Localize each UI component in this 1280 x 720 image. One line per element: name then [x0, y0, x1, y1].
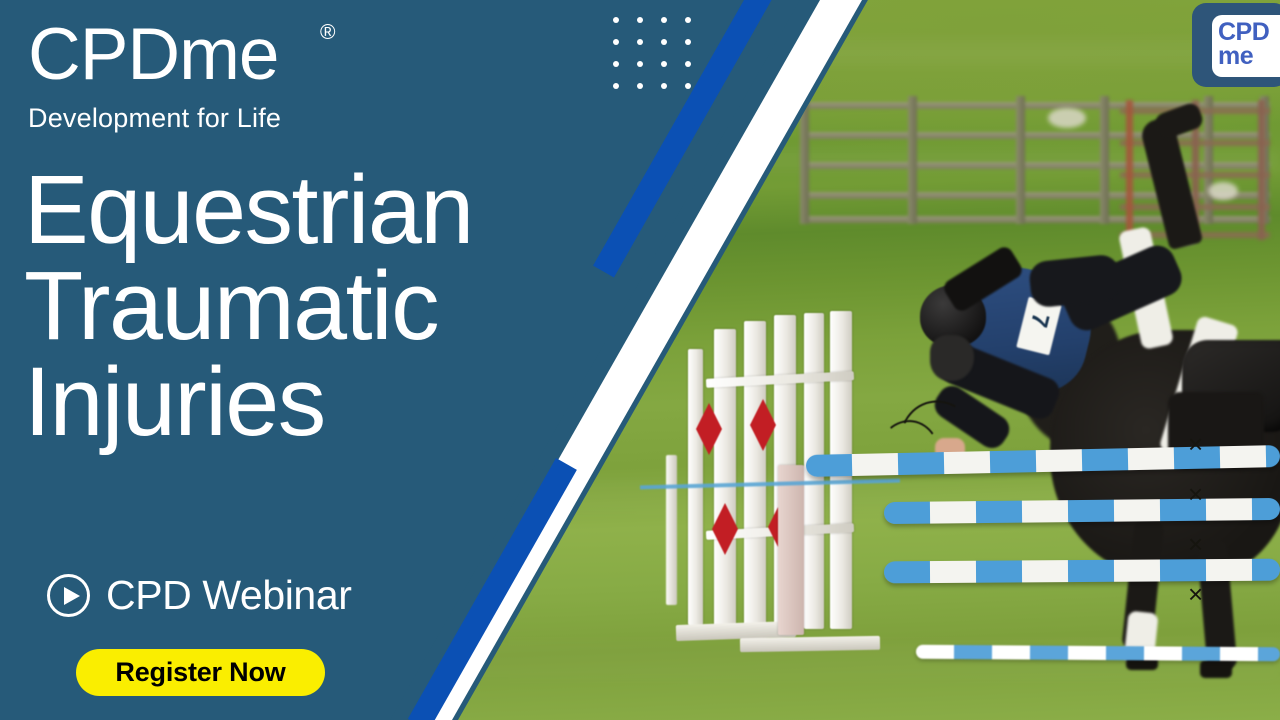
dot: [661, 61, 667, 67]
cpdme-corner-badge[interactable]: CPD me: [1192, 3, 1280, 87]
dot: [661, 83, 667, 89]
dot: [661, 39, 667, 45]
jump-pole: [884, 559, 1280, 584]
page-title-line-3: Injuries: [24, 354, 664, 450]
brand-tagline: Development for Life: [28, 103, 281, 134]
dot: [637, 61, 643, 67]
sheep-shape: [1048, 108, 1086, 128]
webinar-promo-poster: 7 ×: [0, 0, 1280, 720]
dot: [637, 83, 643, 89]
registered-trademark-icon: ®: [320, 22, 335, 43]
page-title: Equestrian Traumatic Injuries: [24, 162, 664, 450]
dot: [613, 61, 619, 67]
dot: [685, 83, 691, 89]
jump-pin-mark-icon: ×: [1188, 531, 1203, 557]
dot: [613, 17, 619, 23]
badge-text-line-1: CPD: [1218, 21, 1269, 44]
brand-logo: CPDme ® Development for Life: [28, 18, 281, 134]
dot: [637, 39, 643, 45]
jump-pin-mark-icon: ×: [1188, 431, 1203, 457]
brand-logo-wordmark: CPDme: [28, 18, 281, 91]
jump-pole: [884, 498, 1280, 524]
rider-head-shape: [930, 335, 974, 381]
dot: [613, 83, 619, 89]
dot: [613, 39, 619, 45]
register-now-button[interactable]: Register Now: [76, 649, 325, 696]
dot: [685, 61, 691, 67]
dot: [661, 17, 667, 23]
page-title-line-1: Equestrian: [24, 162, 664, 258]
ground-pole: [916, 645, 1280, 662]
jump-pin-mark-icon: ×: [1188, 481, 1203, 507]
jump-wing-post: [666, 455, 677, 605]
webinar-label-row: CPD Webinar: [47, 572, 351, 619]
badge-text-line-2: me: [1218, 45, 1253, 68]
play-circle-icon[interactable]: [47, 574, 90, 617]
webinar-label: CPD Webinar: [106, 572, 351, 619]
dot: [637, 17, 643, 23]
horse-hoof-shape: [1200, 660, 1232, 678]
jump-pin-mark-icon: ×: [1188, 581, 1203, 607]
dot: [685, 17, 691, 23]
dot-grid-decoration: [613, 17, 709, 105]
page-title-line-2: Traumatic: [24, 258, 664, 354]
dot: [685, 39, 691, 45]
sheep-shape: [1208, 182, 1238, 200]
